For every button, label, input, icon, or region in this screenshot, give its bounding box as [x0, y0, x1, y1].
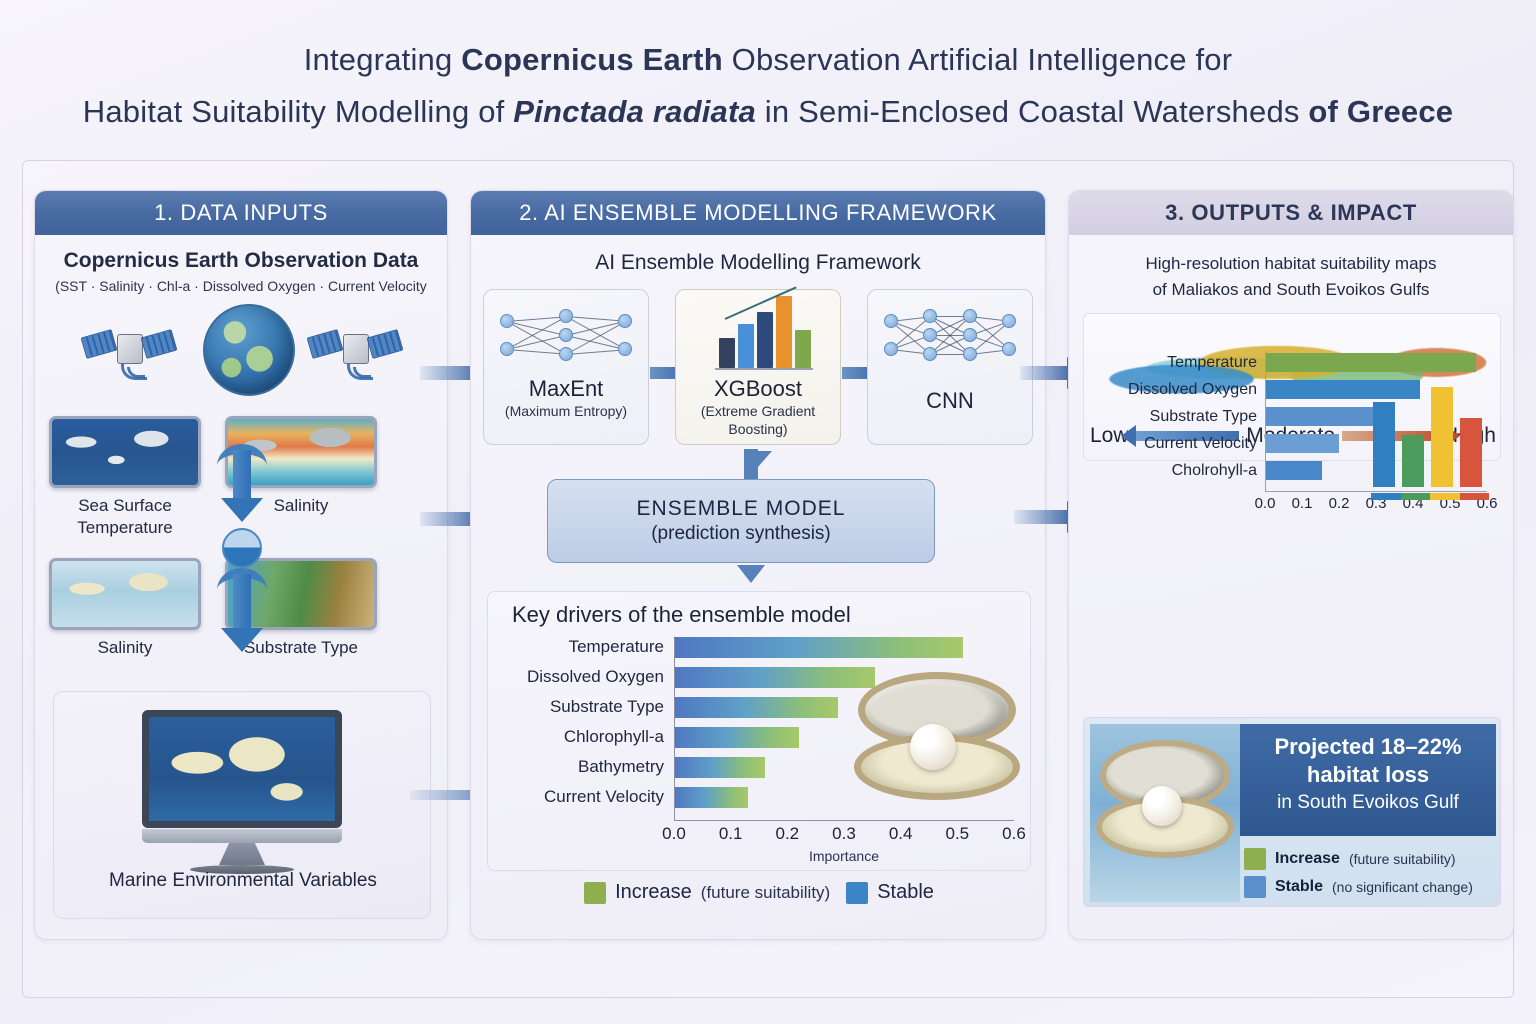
pearl-icon [1142, 786, 1182, 826]
map-label-sst: Sea Surface Temperature [49, 495, 201, 539]
impact-legend-label-increase: Increase [1275, 850, 1340, 868]
impact-legend: Increase (future suitability) Stable (no… [1244, 842, 1496, 898]
chart-y-axis [674, 638, 675, 820]
legend-swatch-stable [1244, 876, 1266, 898]
xgboost-mini-bar [719, 338, 735, 368]
neural-node [500, 342, 514, 356]
impact-line-1: Projected 18–22% [1250, 733, 1486, 761]
title-line1-part-a: Integrating [304, 42, 462, 77]
climate-projection-bar [1265, 407, 1378, 426]
arrow-stem [233, 450, 251, 500]
satellite-body-icon [343, 334, 369, 364]
key-drivers-x-tick: 0.1 [719, 824, 743, 844]
key-drivers-x-tick: 0.0 [662, 824, 686, 844]
impact-legend-note-stable: (no significant change) [1332, 879, 1473, 895]
satellite-icon-left [81, 320, 177, 382]
ccp-strip-segment [1460, 493, 1490, 500]
panel-3-subtitle-line2: of Maliakos and South Evoikos Gulfs [1077, 277, 1505, 303]
title-line2-part-a: Habitat Suitability Modelling of [83, 94, 514, 129]
key-drivers-x-tick: 0.3 [832, 824, 856, 844]
arrow-monitor-to-chart [410, 790, 476, 800]
monitor-base [142, 829, 342, 843]
climate-projection-x-tick: 0.0 [1255, 495, 1276, 512]
key-drivers-category-label: Dissolved Oxygen [488, 664, 664, 690]
merge-node-icon [222, 528, 262, 568]
impact-legend-label-stable: Stable [1275, 878, 1323, 896]
neural-node [923, 328, 937, 342]
impact-legend-increase: Increase (future suitability) [1244, 848, 1496, 870]
neural-node [923, 347, 937, 361]
infographic-canvas: Integrating Copernicus Earth Observation… [0, 0, 1536, 1024]
neural-node [559, 328, 573, 342]
key-drivers-bar [674, 637, 963, 658]
neural-node [1002, 314, 1016, 328]
world-map-screen [142, 710, 342, 828]
title-line2-bold: of Greece [1308, 94, 1453, 129]
impact-line-2: habitat loss [1250, 761, 1486, 789]
monitor-neck [219, 843, 265, 865]
model-box-cnn[interactable]: CNN [867, 289, 1033, 445]
model-box-xgboost[interactable]: XGBoost (Extreme Gradient Boosting) [675, 289, 841, 445]
ccp-vertical-bar [1431, 387, 1453, 487]
oyster-shell-illustration [852, 668, 1022, 808]
ensemble-model-box[interactable]: ENSEMBLE MODEL (prediction synthesis) [547, 479, 935, 563]
satellite-body-icon [117, 334, 143, 364]
arrow-shaft [1014, 510, 1068, 524]
monitor-panel: Marine Environmental Variables [53, 691, 431, 919]
title-line-2: Habitat Suitability Modelling of Pinctad… [0, 86, 1536, 138]
chart-x-axis [674, 820, 1014, 821]
key-drivers-bar [674, 697, 838, 718]
model-boxes-row: MaxEnt (Maximum Entropy) XGBoost (Extrem… [483, 289, 1033, 447]
key-drivers-bar [674, 727, 799, 748]
panel-3-header: 3. OUTPUTS & IMPACT [1069, 191, 1513, 235]
model-sub-xgboost-line1: (Extreme Gradient [695, 402, 821, 420]
title-line2-part-c: in Semi-Enclosed Coastal Watersheds [756, 94, 1308, 129]
panel-2-header: 2. AI ENSEMBLE MODELLING FRAMEWORK [471, 191, 1045, 235]
panel-3-subtitle-line1: High-resolution habitat suitability maps [1077, 251, 1505, 277]
xgboost-baseline [715, 368, 813, 370]
ccp-vertical-bar [1373, 402, 1395, 487]
title-line-1: Integrating Copernicus Earth Observation… [0, 34, 1536, 86]
key-drivers-x-tick: 0.5 [946, 824, 970, 844]
key-drivers-category-label: Temperature [488, 634, 664, 660]
earth-globe-icon [203, 304, 295, 396]
key-drivers-chart-card: Key drivers of the ensemble model Temper… [487, 591, 1031, 871]
legend-swatch-increase [584, 882, 606, 904]
ccp-vertical-bar [1402, 435, 1424, 487]
map-card-salinity-bottom[interactable]: Salinity [49, 558, 201, 659]
neural-network-icon [491, 296, 641, 374]
oyster-photo [1090, 724, 1240, 902]
variable-map-grid: Sea Surface Temperature Salinity Salinit… [49, 416, 433, 666]
neural-node [559, 309, 573, 323]
climate-projection-bar [1265, 353, 1476, 372]
legend-item-increase: Increase (future suitability) [584, 881, 830, 904]
legend-label-increase: Increase [615, 881, 692, 904]
ccp-strip-segment [1401, 493, 1431, 500]
climate-projection-category-label: Cholrohyll-a [1069, 459, 1257, 482]
panel-data-inputs: 1. DATA INPUTS Copernicus Earth Observat… [34, 190, 448, 940]
climate-projection-category-label: Temperature [1069, 351, 1257, 374]
sst-map-thumbnail [49, 416, 201, 488]
satellite-earth-illustration [35, 298, 447, 402]
connector-maxent-xgboost [650, 367, 676, 379]
ccp-vertical-bars [1371, 377, 1489, 495]
climate-projection-category-label: Dissolved Oxygen [1069, 378, 1257, 401]
model-title-maxent: MaxEnt [529, 376, 604, 402]
legend-label-stable: Stable [877, 881, 934, 904]
key-drivers-category-label: Current Velocity [488, 784, 664, 810]
panel-3-subtitle: High-resolution habitat suitability maps… [1069, 251, 1513, 303]
chart-x-axis-label: Importance [674, 848, 1014, 864]
model-sub-maxent: (Maximum Entropy) [499, 402, 633, 420]
neural-node [963, 328, 977, 342]
arrow-shaft [410, 790, 476, 800]
climate-projection-category-label: Current Velocity [1069, 432, 1257, 455]
map-label-sst-line1: Sea Surface [49, 495, 201, 517]
neural-node [618, 314, 632, 328]
key-drivers-bar [674, 667, 875, 688]
arrow-head-icon [221, 498, 263, 522]
model-box-maxent[interactable]: MaxEnt (Maximum Entropy) [483, 289, 649, 445]
neural-node [963, 309, 977, 323]
ccp-y-axis [1265, 351, 1266, 491]
key-drivers-chart-title: Key drivers of the ensemble model [512, 602, 1030, 628]
satellite-icon-right [307, 320, 403, 382]
ensemble-connector-stem [744, 449, 758, 479]
neural-node [884, 314, 898, 328]
neural-node [559, 347, 573, 361]
panel-2-subtitle: AI Ensemble Modelling Framework [471, 251, 1045, 275]
climate-projection-x-tick: 0.1 [1292, 495, 1313, 512]
salinity-map-thumbnail-2 [49, 558, 201, 630]
arrow-ensemble-to-projections [1014, 510, 1068, 524]
key-drivers-row: Temperature [488, 634, 1030, 664]
map-label-salinity-bottom: Salinity [49, 637, 201, 659]
xgboost-mini-bar [757, 312, 773, 368]
climate-projection-bar [1265, 461, 1322, 480]
key-drivers-x-tick: 0.6 [1002, 824, 1026, 844]
key-drivers-category-label: Chlorophyll-a [488, 724, 664, 750]
xgboost-mini-bar [776, 296, 792, 368]
page-title: Integrating Copernicus Earth Observation… [0, 34, 1536, 138]
key-drivers-bar-chart: TemperatureDissolved OxygenSubstrate Typ… [488, 634, 1030, 834]
key-drivers-category-label: Bathymetry [488, 754, 664, 780]
neural-node [1002, 342, 1016, 356]
legend-swatch-increase [1244, 848, 1266, 870]
panel-ai-ensemble-framework: 2. AI ENSEMBLE MODELLING FRAMEWORK AI En… [470, 190, 1046, 940]
title-line1-bold: Copernicus Earth [461, 42, 723, 77]
map-card-sea-surface-temperature[interactable]: Sea Surface Temperature [49, 416, 201, 539]
ensemble-subtitle: (prediction synthesis) [651, 523, 831, 545]
xgboost-mini-bar [738, 324, 754, 368]
xgboost-mini-bar [795, 330, 811, 368]
panel-outputs-impact: 3. OUTPUTS & IMPACT High-resolution habi… [1068, 190, 1514, 940]
solar-panel-icon [81, 329, 118, 359]
model-sub-xgboost-line2: Boosting) [722, 420, 793, 438]
legend-note-increase: (future suitability) [701, 883, 830, 903]
impact-summary-card: Projected 18–22% habitat loss in South E… [1083, 717, 1501, 907]
arrow-shaft [1020, 366, 1068, 380]
connector-xgboost-cnn [842, 367, 868, 379]
climate-projection-category-label: Substrate Type [1069, 405, 1257, 428]
legend-item-stable: Stable [846, 881, 934, 904]
pearl-icon [910, 724, 956, 770]
impact-legend-note-increase: (future suitability) [1349, 851, 1456, 867]
title-species-name: Pinctada radiata [513, 94, 756, 129]
model-title-cnn: CNN [926, 388, 974, 414]
key-drivers-bar [674, 757, 765, 778]
key-drivers-category-label: Substrate Type [488, 694, 664, 720]
solar-panel-icon [307, 329, 344, 359]
map-label-sst-line2: Temperature [49, 517, 201, 539]
arrow-models-to-outputs [1020, 366, 1068, 380]
neural-node [500, 314, 514, 328]
legend-swatch-stable [846, 882, 868, 904]
solar-panel-icon [367, 329, 404, 359]
ccp-color-strip [1371, 493, 1489, 500]
panel-1-variables-list: (SST · Salinity · Chl-a · Dissolved Oxyg… [35, 278, 447, 294]
bar-chart-icon [683, 296, 833, 374]
key-drivers-legend: Increase (future suitability) Stable [487, 881, 1031, 904]
arrow-stem [233, 574, 251, 630]
climate-projection-x-tick: 0.2 [1329, 495, 1350, 512]
ensemble-title: ENSEMBLE MODEL [637, 497, 846, 521]
impact-banner: Projected 18–22% habitat loss in South E… [1240, 724, 1496, 836]
neural-node [884, 342, 898, 356]
model-title-xgboost: XGBoost [714, 376, 802, 402]
neural-node [618, 342, 632, 356]
climate-projections-chart: TemperatureDissolved OxygenSubstrate Typ… [1069, 351, 1513, 531]
key-drivers-x-tick: 0.4 [889, 824, 913, 844]
ccp-strip-segment [1371, 493, 1401, 500]
data-flow-arrow-icon [211, 416, 273, 666]
monitor-caption: Marine Environmental Variables [54, 870, 432, 892]
ccp-strip-segment [1430, 493, 1460, 500]
key-drivers-x-tick: 0.2 [776, 824, 800, 844]
climate-projection-row: Temperature [1069, 351, 1513, 378]
panel-1-subtitle: Copernicus Earth Observation Data [35, 249, 447, 273]
ccp-vertical-bar [1460, 418, 1482, 487]
desktop-monitor-icon [142, 710, 342, 840]
impact-line-3: in South Evoikos Gulf [1250, 789, 1486, 816]
panel-1-header: 1. DATA INPUTS [35, 191, 447, 235]
arrow-down-icon [737, 565, 765, 583]
arrow-head-icon [221, 628, 263, 652]
climate-projection-bar [1265, 434, 1339, 453]
key-drivers-bar [674, 787, 748, 808]
title-line1-part-c: Observation Artificial Intelligence for [723, 42, 1232, 77]
solar-panel-icon [141, 329, 178, 359]
neural-node [963, 347, 977, 361]
neural-network-icon [875, 296, 1025, 374]
impact-legend-stable: Stable (no significant change) [1244, 876, 1496, 898]
